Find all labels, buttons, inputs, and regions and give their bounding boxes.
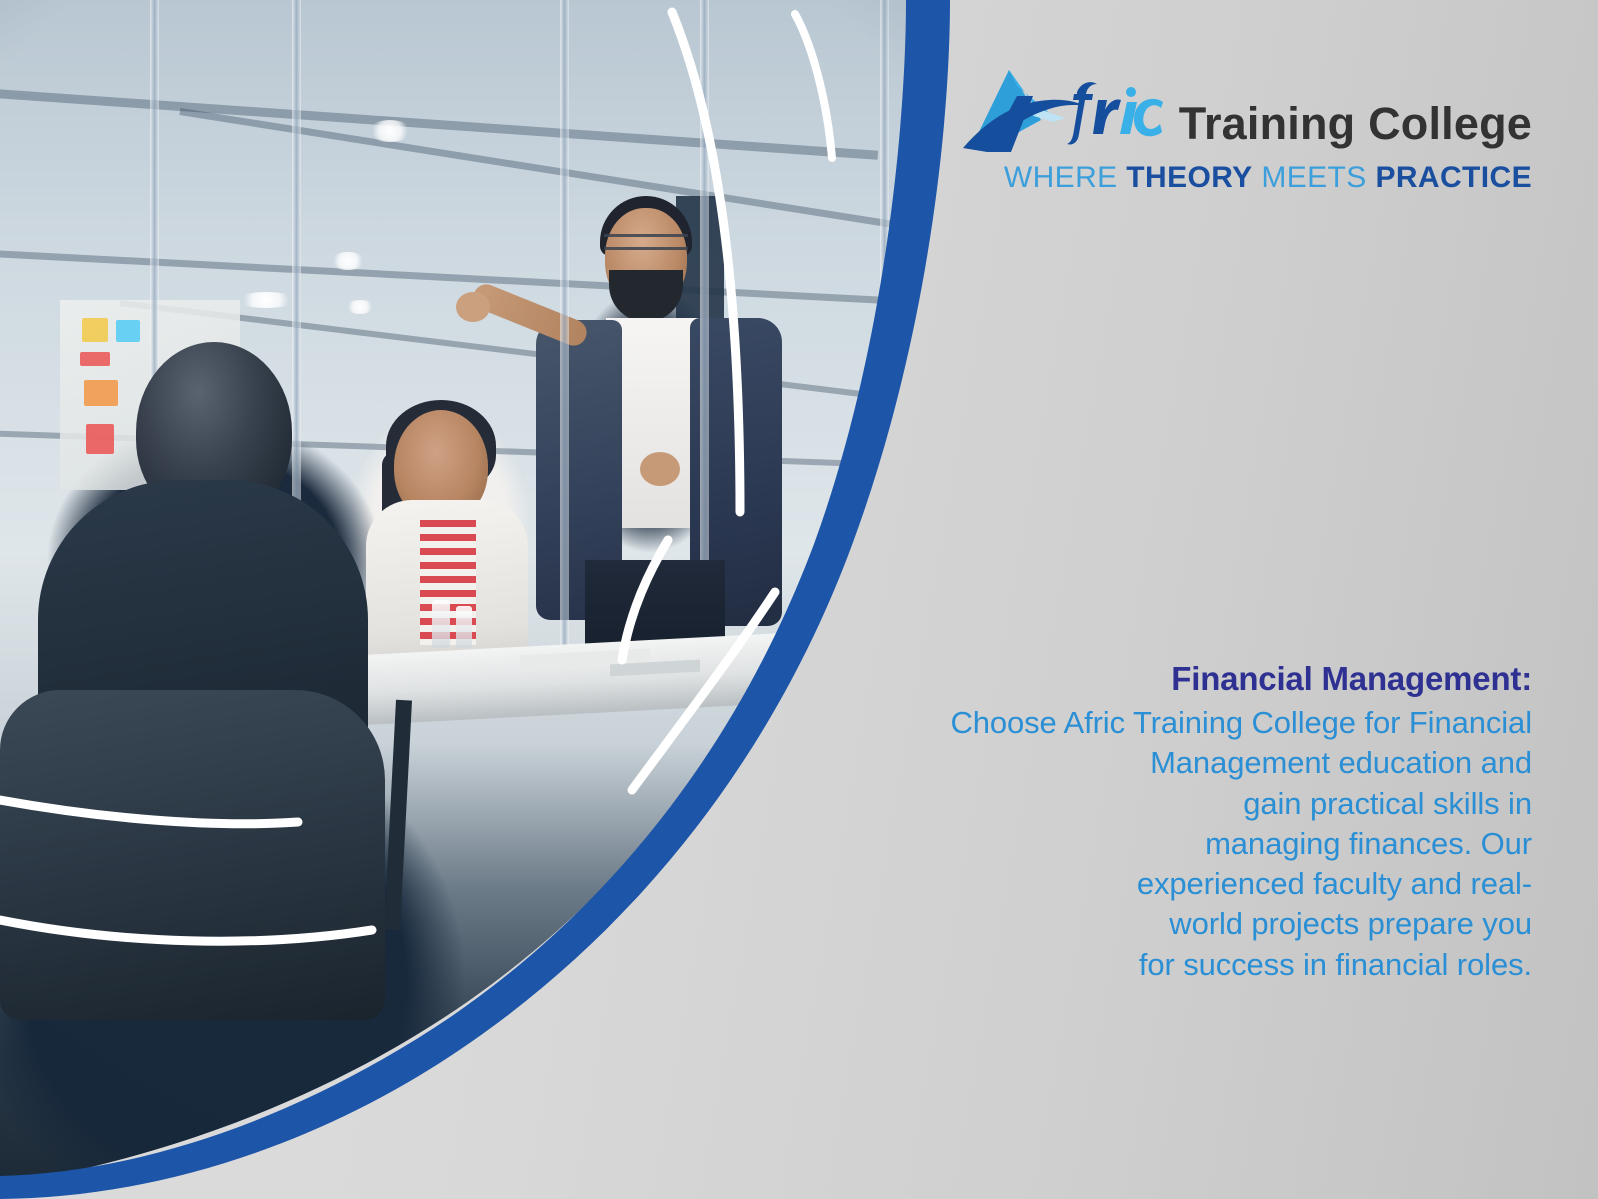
- tagline-word-where: WHERE: [1004, 161, 1118, 194]
- tagline-word-meets: MEETS: [1261, 161, 1366, 194]
- tagline-word-practice: PRACTICE: [1375, 161, 1532, 194]
- copy-line: world projects prepare you: [872, 904, 1532, 944]
- logo-row: Training College: [957, 62, 1532, 158]
- brand-logo-block: Training College WHERE THEORY MEETS PRAC…: [957, 62, 1532, 194]
- copy-line: gain practical skills in: [872, 784, 1532, 824]
- brand-tagline: WHERE THEORY MEETS PRACTICE: [1004, 162, 1532, 194]
- copy-line: Management education and: [872, 743, 1532, 783]
- copy-line: managing finances. Our: [872, 824, 1532, 864]
- tagline-word-theory: THEORY: [1126, 161, 1252, 194]
- course-description-text: Choose Afric Training College for Financ…: [872, 703, 1532, 985]
- classroom-training-session-photo: [0, 0, 935, 1199]
- afric-mountain-swoosh-logo: [957, 62, 1165, 158]
- poster-canvas: Training College WHERE THEORY MEETS PRAC…: [0, 0, 1598, 1199]
- logo-wordmark: Training College: [1179, 101, 1532, 158]
- copy-line: experienced faculty and real-: [872, 864, 1532, 904]
- copy-line: Choose Afric Training College for Financ…: [872, 703, 1532, 743]
- course-title-heading: Financial Management:: [872, 660, 1532, 699]
- copy-line: for success in financial roles.: [872, 945, 1532, 985]
- photo-scene: [0, 0, 935, 1199]
- photo-vignette: [0, 0, 935, 1199]
- promotional-copy-block: Financial Management: Choose Afric Train…: [872, 660, 1532, 985]
